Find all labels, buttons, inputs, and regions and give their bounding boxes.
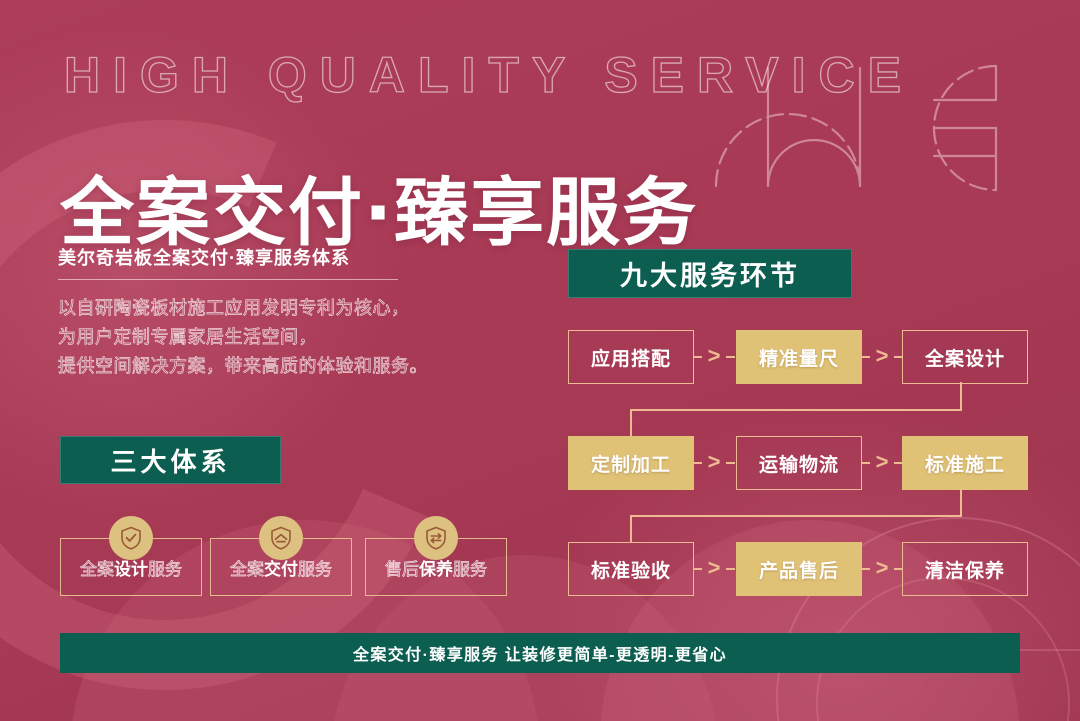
three-systems-banner: 三大体系	[60, 436, 281, 484]
system-badge-design[interactable]: 全案设计服务	[60, 538, 202, 596]
badge-emphasis: 保养	[419, 560, 453, 579]
flow-step-1[interactable]: 应用搭配	[568, 330, 694, 384]
flow-step-6[interactable]: 标准施工	[902, 436, 1028, 490]
flow-step-7[interactable]: 标准验收	[568, 542, 694, 596]
poster-canvas: HIGH QUALITY SERVICE 全案交付·臻享服务 美尔奇岩板全案交付…	[0, 0, 1080, 721]
badge-emphasis: 设计	[114, 560, 148, 579]
flow-step-2[interactable]: 精准量尺	[736, 330, 862, 384]
system-badge-maintenance[interactable]: 售后保养服务	[365, 538, 507, 596]
intro-divider	[58, 279, 398, 280]
system-badge-delivery[interactable]: 全案交付服务	[210, 538, 352, 596]
flow-connector-6-down	[960, 488, 962, 515]
intro-line-2: 为用户定制专属家居生活空间，	[58, 323, 518, 352]
badge-suffix: 服务	[453, 560, 487, 579]
badge-prefix: 售后	[385, 560, 419, 579]
footer-slogan-bar: 全案交付·臻享服务 让装修更简单-更透明-更省心	[60, 633, 1020, 673]
badge-prefix: 全案	[80, 560, 114, 579]
flow-arrow-2-3: >	[860, 330, 904, 382]
badge-suffix: 服务	[298, 560, 332, 579]
flow-step-3[interactable]: 全案设计	[902, 330, 1028, 384]
badge-prefix: 全案	[230, 560, 264, 579]
flow-arrow-8-9: >	[860, 542, 904, 594]
flow-connector-4-up	[630, 409, 632, 436]
eyebrow-heading: HIGH QUALITY SERVICE	[64, 46, 914, 104]
flow-arrow-5-6: >	[860, 436, 904, 488]
intro-description: 以自研陶瓷板材施工应用发明专利为核心， 为用户定制专属家居生活空间， 提供空间解…	[58, 294, 518, 381]
shield-home-icon	[259, 516, 303, 560]
flow-arrow-7-8: >	[692, 542, 736, 594]
flow-arrow-1-2: >	[692, 330, 736, 382]
flow-connector-row2-to-row3	[630, 515, 962, 517]
badge-emphasis: 交付	[264, 560, 298, 579]
flow-step-8[interactable]: 产品售后	[736, 542, 862, 596]
nine-steps-banner: 九大服务环节	[568, 249, 852, 298]
badge-suffix: 服务	[148, 560, 182, 579]
intro-block: 美尔奇岩板全案交付·臻享服务体系 以自研陶瓷板材施工应用发明专利为核心， 为用户…	[58, 244, 518, 381]
three-systems-list: 全案设计服务 全案交付服务	[60, 538, 520, 600]
intro-line-1: 以自研陶瓷板材施工应用发明专利为核心，	[58, 294, 518, 323]
flow-step-4[interactable]: 定制加工	[568, 436, 694, 490]
flow-step-5[interactable]: 运输物流	[736, 436, 862, 490]
flow-step-9[interactable]: 清洁保养	[902, 542, 1028, 596]
intro-line-3: 提供空间解决方案，带来高质的体验和服务。	[58, 352, 518, 381]
flow-connector-row1-to-row2	[630, 409, 962, 411]
flow-arrow-4-5: >	[692, 436, 736, 488]
intro-heading: 美尔奇岩板全案交付·臻享服务体系	[58, 244, 518, 270]
flow-connector-7-up	[630, 515, 632, 542]
shield-check-icon	[109, 516, 153, 560]
nine-steps-flow: 应用搭配 > 精准量尺 > 全案设计 定制加工 > 运输物流 > 标准施工 标准…	[568, 330, 1026, 602]
flow-connector-3-down	[960, 382, 962, 409]
shield-exchange-icon	[414, 516, 458, 560]
